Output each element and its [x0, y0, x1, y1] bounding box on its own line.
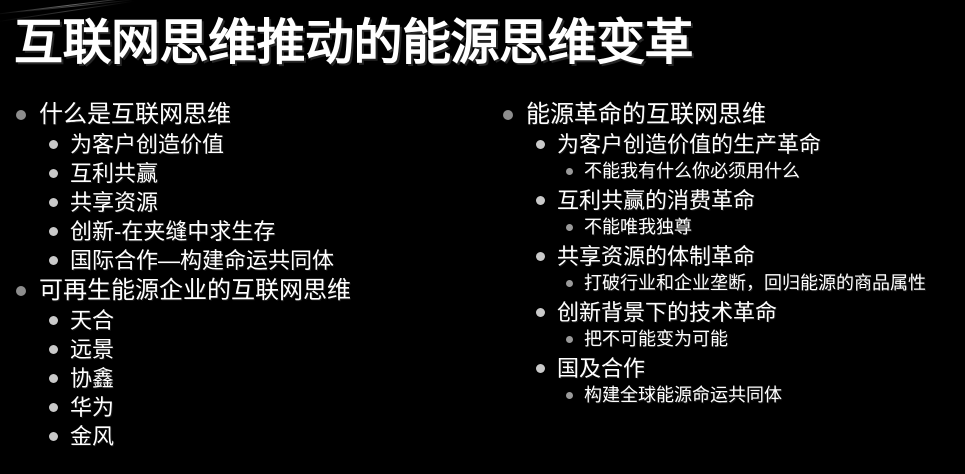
bullet-level2: 协鑫: [49, 364, 498, 393]
bullet-level2: 为客户创造价值的生产革命: [536, 130, 965, 159]
bullet-dot-icon: [536, 364, 545, 373]
bullet-text: 不能我有什么你必须用什么: [584, 159, 800, 184]
bullet-text: 打破行业和企业垄断，回归能源的商品属性: [584, 271, 926, 296]
bullet-text: 为客户创造价值的生产革命: [557, 130, 821, 159]
bullet-text: 金风: [70, 422, 114, 451]
bullet-text: 把不可能变为可能: [584, 327, 728, 352]
bullet-text: 能源革命的互联网思维: [526, 99, 766, 130]
bullet-level2: 国及合作: [536, 354, 965, 383]
bullet-dot-icon: [49, 169, 58, 178]
bullet-dot-icon: [566, 280, 573, 287]
bullet-dot-icon: [536, 196, 545, 205]
bullet-dot-icon: [566, 168, 573, 175]
scan-artifact-line: [14, 0, 133, 13]
slide-title: 互联网思维推动的能源思维变革: [14, 14, 693, 72]
bullet-text: 远景: [70, 335, 114, 364]
bullet-dot-icon: [566, 392, 573, 399]
bullet-text: 什么是互联网思维: [39, 99, 231, 130]
bullet-text: 共享资源: [70, 188, 158, 217]
bullet-dot-icon: [49, 227, 58, 236]
bullet-dot-icon: [49, 345, 58, 354]
left-column: 什么是互联网思维 为客户创造价值 互利共赢 共享资源 创新-在夹缝中求生存 国际…: [8, 99, 498, 451]
bullet-text: 为客户创造价值: [70, 130, 224, 159]
bullet-level3: 打破行业和企业垄断，回归能源的商品属性: [566, 271, 965, 298]
bullet-dot-icon: [503, 110, 513, 120]
bullet-dot-icon: [49, 140, 58, 149]
bullet-level2: 金风: [49, 422, 498, 451]
bullet-text: 可再生能源企业的互联网思维: [39, 275, 351, 306]
bullet-level1: 什么是互联网思维: [16, 99, 498, 130]
bullet-level2: 共享资源的体制革命: [536, 242, 965, 271]
bullet-dot-icon: [49, 403, 58, 412]
bullet-level2: 远景: [49, 335, 498, 364]
bullet-text: 天合: [70, 306, 114, 335]
bullet-level2: 国际合作—构建命运共同体: [49, 246, 498, 275]
bullet-level2: 天合: [49, 306, 498, 335]
bullet-text: 创新背景下的技术革命: [557, 298, 777, 327]
bullet-text: 互利共赢: [70, 159, 158, 188]
bullet-level2: 创新-在夹缝中求生存: [49, 217, 498, 246]
bullet-dot-icon: [49, 316, 58, 325]
bullet-text: 协鑫: [70, 364, 114, 393]
bullet-text: 互利共赢的消费革命: [557, 186, 755, 215]
bullet-level2: 华为: [49, 393, 498, 422]
bullet-level1: 可再生能源企业的互联网思维: [16, 275, 498, 306]
bullet-dot-icon: [536, 140, 545, 149]
bullet-text: 不能唯我独尊: [584, 215, 692, 240]
bullet-level3: 构建全球能源命运共同体: [566, 383, 965, 410]
bullet-text: 国际合作—构建命运共同体: [70, 246, 334, 275]
bullet-dot-icon: [536, 308, 545, 317]
bullet-text: 创新-在夹缝中求生存: [70, 217, 275, 246]
bullet-dot-icon: [49, 374, 58, 383]
bullet-dot-icon: [16, 286, 26, 296]
bullet-text: 构建全球能源命运共同体: [584, 383, 782, 408]
bullet-text: 华为: [70, 393, 114, 422]
slide-body: 什么是互联网思维 为客户创造价值 互利共赢 共享资源 创新-在夹缝中求生存 国际…: [0, 99, 965, 474]
right-column: 能源革命的互联网思维 为客户创造价值的生产革命 不能我有什么你必须用什么 互利共…: [495, 99, 965, 410]
bullet-level2: 互利共赢: [49, 159, 498, 188]
bullet-dot-icon: [49, 198, 58, 207]
scan-artifact-line: [0, 0, 143, 15]
bullet-level1: 能源革命的互联网思维: [503, 99, 965, 130]
bullet-level3: 不能我有什么你必须用什么: [566, 159, 965, 186]
bullet-dot-icon: [566, 336, 573, 343]
bullet-level3: 不能唯我独尊: [566, 215, 965, 242]
bullet-dot-icon: [49, 432, 58, 441]
presentation-slide: { "slide": { "title": "互联网思维推动的能源思维变革", …: [0, 0, 965, 474]
bullet-text: 共享资源的体制革命: [557, 242, 755, 271]
bullet-dot-icon: [566, 224, 573, 231]
bullet-dot-icon: [49, 256, 58, 265]
bullet-text: 国及合作: [557, 354, 645, 383]
bullet-level2: 创新背景下的技术革命: [536, 298, 965, 327]
bullet-dot-icon: [16, 110, 26, 120]
bullet-level3: 把不可能变为可能: [566, 327, 965, 354]
bullet-dot-icon: [536, 252, 545, 261]
bullet-level2: 共享资源: [49, 188, 498, 217]
bullet-level2: 互利共赢的消费革命: [536, 186, 965, 215]
bullet-level2: 为客户创造价值: [49, 130, 498, 159]
